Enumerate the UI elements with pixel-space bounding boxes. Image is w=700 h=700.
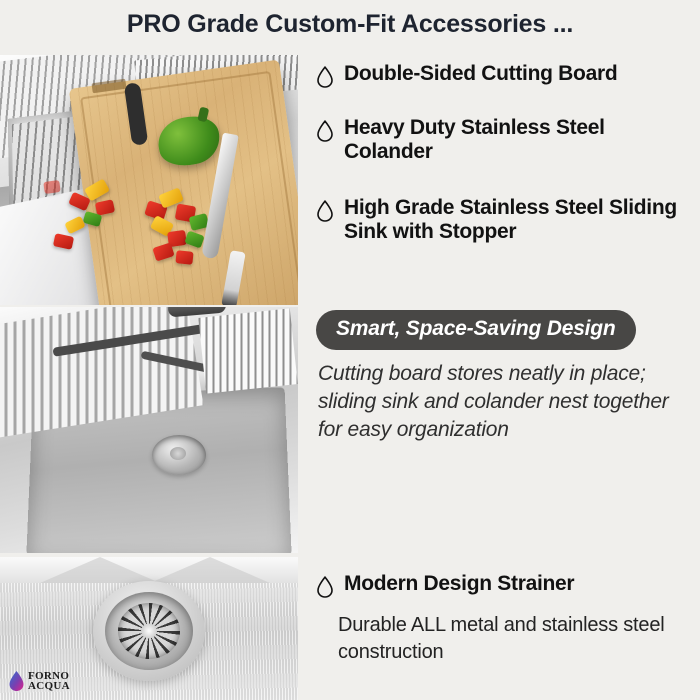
content-column: Double-Sided Cutting Board Heavy Duty St… — [316, 0, 692, 700]
feature-item-sliding-sink: High Grade Stainless Steel Sliding Sink … — [316, 196, 692, 244]
feature-label: Heavy Duty Stainless Steel Colander — [344, 116, 692, 164]
logo-line-2: ACQUA — [28, 681, 70, 691]
sliding-colander-grate — [198, 308, 297, 393]
feature-label: High Grade Stainless Steel Sliding Sink … — [344, 196, 692, 244]
feature-item-cutting-board: Double-Sided Cutting Board — [316, 62, 617, 89]
water-drop-icon — [316, 199, 334, 223]
sink-basin-photo — [0, 307, 298, 553]
chopped-pepper-piece — [175, 250, 193, 265]
chopped-pepper-in-colander — [43, 180, 61, 194]
strainer-description: Durable ALL metal and stainless steel co… — [338, 612, 688, 665]
water-drop-gradient-icon — [8, 670, 25, 692]
water-drop-icon — [316, 65, 334, 89]
strainer-ring — [105, 592, 193, 670]
cutting-board-over-sink-photo — [0, 55, 298, 305]
strainer-assembly — [93, 581, 205, 681]
basin-wall-reflection — [150, 557, 270, 583]
highlight-banner: Smart, Space-Saving Design — [316, 310, 636, 350]
sink-drain — [152, 435, 206, 475]
brand-logo: FORNO ACQUA — [8, 670, 70, 692]
logo-wordmark: FORNO ACQUA — [28, 671, 70, 691]
feature-item-strainer: Modern Design Strainer — [316, 572, 574, 599]
feature-item-colander: Heavy Duty Stainless Steel Colander — [316, 116, 692, 164]
highlight-body-text: Cutting board stores neatly in place; sl… — [318, 360, 676, 444]
infographic-page: PRO Grade Custom-Fit Accessories ... — [0, 0, 700, 700]
feature-label: Modern Design Strainer — [344, 572, 574, 596]
strainer-closeup-photo: FORNO ACQUA — [0, 557, 298, 700]
water-drop-icon — [316, 119, 334, 143]
strainer-center-hub — [141, 624, 157, 639]
feature-label: Double-Sided Cutting Board — [344, 62, 617, 86]
water-drop-icon — [316, 575, 334, 599]
basin-wall-reflection — [40, 557, 160, 583]
